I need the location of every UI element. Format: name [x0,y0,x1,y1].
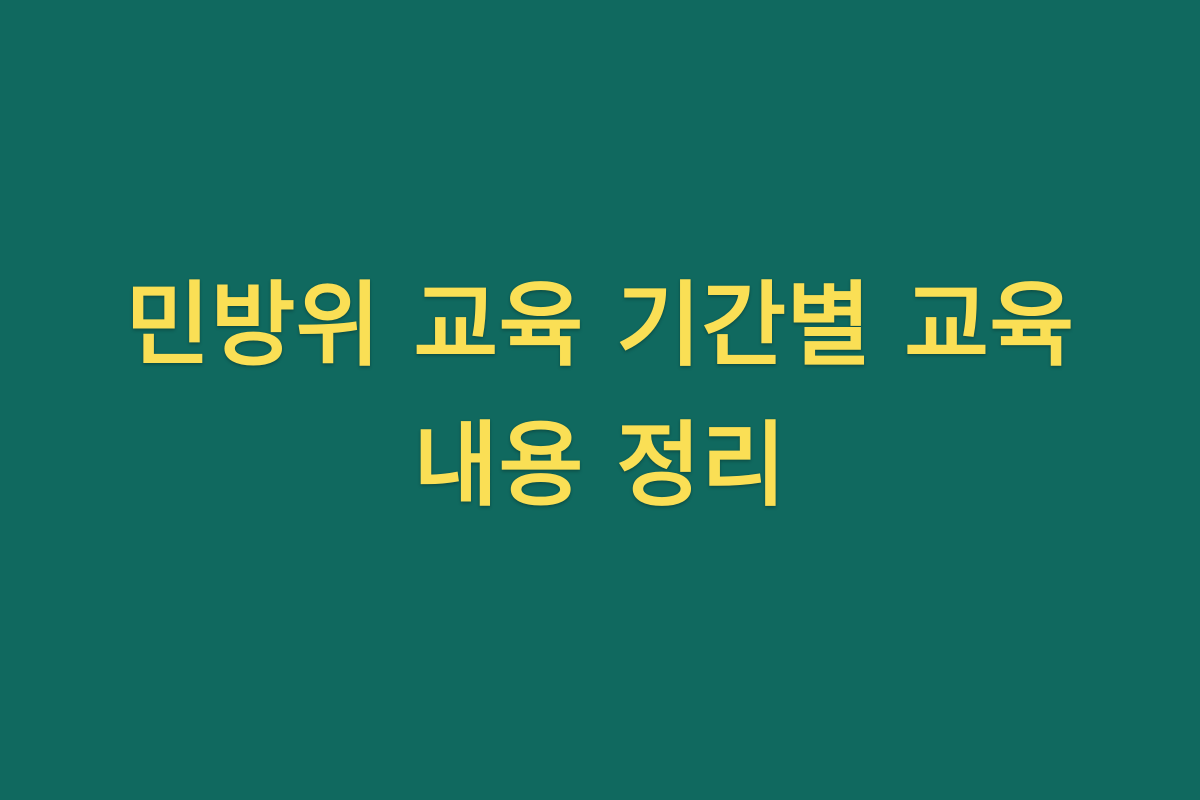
page-title: 민방위 교육 기간별 교육 내용 정리 [50,256,1150,536]
title-line-1: 민방위 교육 기간별 교육 [50,256,1150,396]
title-line-2: 내용 정리 [50,396,1150,536]
title-card: 민방위 교육 기간별 교육 내용 정리 [0,0,1200,800]
